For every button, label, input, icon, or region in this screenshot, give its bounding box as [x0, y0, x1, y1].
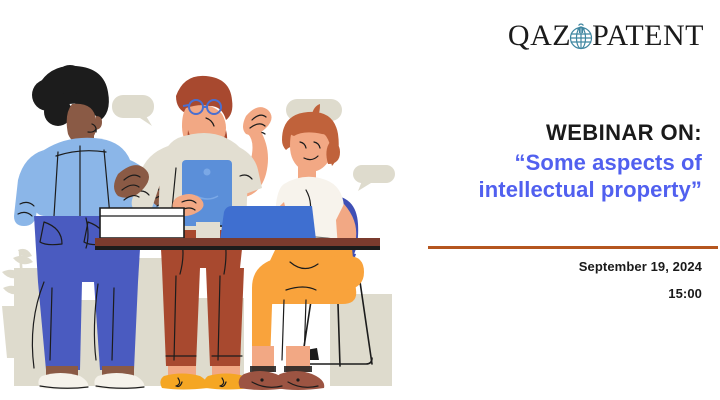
- qazpatent-logo: QAZ PATENT: [528, 18, 704, 54]
- globe-icon: [568, 21, 594, 51]
- event-time: 15:00: [362, 285, 702, 303]
- divider-rule: [428, 246, 718, 249]
- schedule-block: September 19, 2024 15:00: [362, 258, 702, 302]
- webinar-title-line-2: intellectual property”: [362, 177, 702, 204]
- webinar-eyebrow: WEBINAR ON:: [362, 120, 702, 145]
- logo-text-patent: PATENT: [592, 21, 704, 51]
- webinar-poster: .bg{fill:#dedbcd} .ol{fill:none;stroke:#…: [0, 0, 720, 400]
- webinar-title-line-1: “Some aspects of: [362, 150, 702, 177]
- desk: [95, 238, 380, 250]
- headline-block: WEBINAR ON: “Some aspects of intellectua…: [362, 120, 702, 204]
- event-date: September 19, 2024: [362, 258, 702, 276]
- logo-text-qaz: QAZ: [508, 21, 571, 51]
